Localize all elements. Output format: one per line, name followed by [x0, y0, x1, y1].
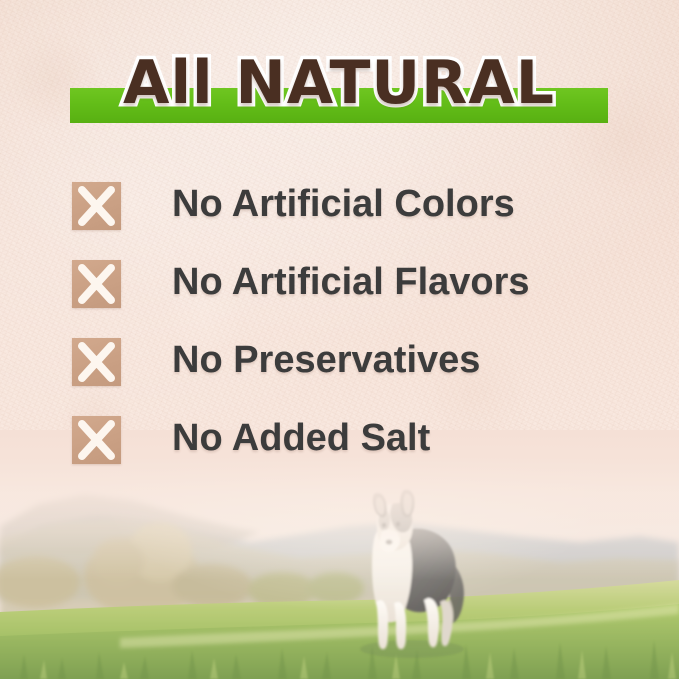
list-item: No Artificial Colors	[72, 182, 632, 260]
claim-label: No Added Salt	[172, 412, 430, 464]
claims-list: No Artificial Colors No Artificial Flavo…	[72, 182, 632, 494]
all-natural-banner: All NATURAL	[70, 88, 608, 123]
list-item: No Preservatives	[72, 338, 632, 416]
all-natural-product-graphic: All NATURAL No Artificial Colors No Arti…	[0, 0, 679, 679]
x-mark-glyph	[72, 260, 121, 308]
x-mark-icon	[72, 260, 121, 308]
x-mark-icon	[72, 338, 121, 386]
x-mark-glyph	[72, 416, 121, 464]
x-mark-glyph	[72, 338, 121, 386]
claim-label: No Artificial Flavors	[172, 256, 530, 308]
claim-label: No Preservatives	[172, 334, 480, 386]
list-item: No Added Salt	[72, 416, 632, 494]
x-mark-icon	[72, 182, 121, 230]
list-item: No Artificial Flavors	[72, 260, 632, 338]
x-mark-icon	[72, 416, 121, 464]
page-title: All NATURAL	[70, 44, 608, 122]
claim-label: No Artificial Colors	[172, 178, 515, 230]
x-mark-glyph	[72, 182, 121, 230]
